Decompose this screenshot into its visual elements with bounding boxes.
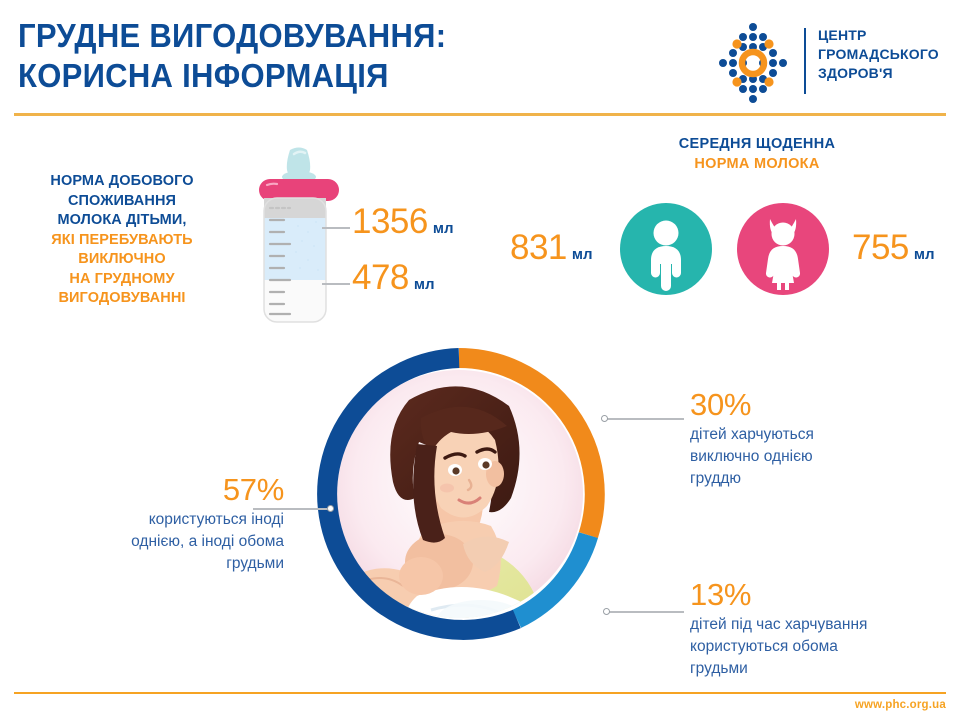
- girl-figure-icon: [737, 203, 829, 295]
- logo: ЦЕНТР ГРОМАДСЬКОГО ЗДОРОВ'Я: [700, 18, 950, 98]
- bottle-caption-blue-3: МОЛОКА ДІТЬМИ,: [14, 211, 230, 231]
- callout-57-percent: 57%: [58, 473, 284, 507]
- header: ГРУДНЕ ВИГОДОВУВАННЯ: КОРИСНА ІНФОРМАЦІЯ: [0, 0, 960, 112]
- baby-bottle-icon: [256, 146, 342, 328]
- header-divider: [14, 113, 946, 116]
- footer-url[interactable]: www.phc.org.ua: [855, 699, 946, 711]
- daily-norm-title: СЕРЕДНЯ ЩОДЕННА НОРМА МОЛОКА: [597, 134, 917, 174]
- callout-57: 57% користуються іноді однією, а іноді о…: [58, 473, 284, 575]
- callout-30-line-1: дітей харчуються: [690, 424, 940, 446]
- bottle-value-1356: 1356мл: [352, 202, 454, 242]
- bottle-value-478-number: 478: [352, 258, 409, 297]
- bottle-caption-orange-3: НА ГРУДНОМУ: [14, 270, 230, 290]
- callout-57-line-2: однією, а іноді обома: [58, 531, 284, 553]
- leader-dot-30: [601, 415, 608, 422]
- leader-line-30: [606, 418, 684, 420]
- page-title-line-1: ГРУДНЕ ВИГОДОВУВАННЯ:: [18, 16, 620, 56]
- boy-value: 831мл: [510, 228, 593, 268]
- bottle-caption-blue-1: НОРМА ДОБОВОГО: [14, 172, 230, 192]
- daily-norm-title-blue: СЕРЕДНЯ ЩОДЕННА: [597, 134, 917, 154]
- footer-divider: [14, 692, 946, 694]
- callout-57-line-3: грудьми: [58, 553, 284, 575]
- callout-30-line-3: груддю: [690, 468, 940, 490]
- callout-13: 13% дітей під час харчування користуютьс…: [690, 578, 940, 680]
- callout-13-line-1: дітей під час харчування: [690, 614, 940, 636]
- page-title: ГРУДНЕ ВИГОДОВУВАННЯ: КОРИСНА ІНФОРМАЦІЯ: [18, 16, 620, 96]
- leader-dot-13: [603, 608, 610, 615]
- bottle-value-1356-number: 1356: [352, 202, 428, 241]
- leader-dot-57: [327, 505, 334, 512]
- callout-13-line-2: користуються обома: [690, 636, 940, 658]
- bottle-caption: НОРМА ДОБОВОГО СПОЖИВАННЯ МОЛОКА ДІТЬМИ,…: [14, 172, 230, 309]
- dots-diamond-ring-logo-icon: [710, 20, 796, 106]
- callout-13-percent: 13%: [690, 578, 940, 612]
- callout-57-line-1: користуються іноді: [58, 509, 284, 531]
- infographic-page: ГРУДНЕ ВИГОДОВУВАННЯ: КОРИСНА ІНФОРМАЦІЯ: [0, 0, 960, 720]
- bottle-value-1356-unit: мл: [433, 220, 454, 237]
- bottle-value-478-unit: мл: [414, 276, 435, 293]
- bottle-caption-blue-2: СПОЖИВАННЯ: [14, 192, 230, 212]
- logo-text-line-3: ЗДОРОВ'Я: [818, 64, 939, 83]
- callout-13-description: дітей під час харчування користуються об…: [690, 614, 940, 680]
- girl-value: 755мл: [852, 228, 935, 268]
- logo-text: ЦЕНТР ГРОМАДСЬКОГО ЗДОРОВ'Я: [818, 26, 939, 83]
- callout-57-description: користуються іноді однією, а іноді обома…: [58, 509, 284, 575]
- logo-divider: [804, 28, 806, 94]
- bottle-value-478: 478мл: [352, 258, 435, 298]
- bottle-leader-line-1356: [322, 227, 350, 229]
- bottle-caption-orange-1: ЯКІ ПЕРЕБУВАЮТЬ: [14, 231, 230, 251]
- boy-value-number: 831: [510, 228, 567, 267]
- daily-norm-title-orange: НОРМА МОЛОКА: [597, 154, 917, 174]
- girl-value-unit: мл: [914, 246, 935, 263]
- callout-13-line-3: грудьми: [690, 658, 940, 680]
- bottle-caption-orange-2: ВИКЛЮЧНО: [14, 250, 230, 270]
- logo-text-line-1: ЦЕНТР: [818, 26, 939, 45]
- leader-line-13: [608, 611, 684, 613]
- boy-value-unit: мл: [572, 246, 593, 263]
- page-title-line-2: КОРИСНА ІНФОРМАЦІЯ: [18, 56, 620, 96]
- callout-30-percent: 30%: [690, 388, 940, 422]
- logo-text-line-2: ГРОМАДСЬКОГО: [818, 45, 939, 64]
- callout-30-line-2: виключно однією: [690, 446, 940, 468]
- breastfeeding-donut-chart: [313, 348, 605, 640]
- callout-30-description: дітей харчуються виключно однією груддю: [690, 424, 940, 490]
- bottle-leader-line-478: [322, 283, 350, 285]
- bottle-caption-orange-4: ВИГОДОВУВАННІ: [14, 289, 230, 309]
- boy-figure-icon: [620, 203, 712, 295]
- girl-value-number: 755: [852, 228, 909, 267]
- callout-30: 30% дітей харчуються виключно однією гру…: [690, 388, 940, 490]
